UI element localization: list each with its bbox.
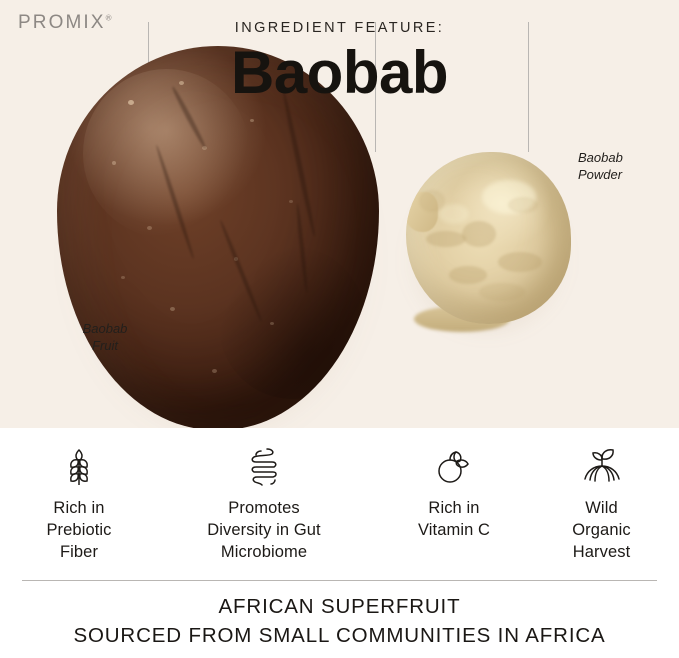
benefit-label: PromotesDiversity in GutMicrobiome	[153, 498, 375, 563]
benefit-item-wild-organic-harvest: WildOrganicHarvest	[533, 444, 670, 563]
fruit-caption-line2: Fruit	[52, 338, 158, 355]
sprout-icon	[533, 444, 670, 490]
benefit-label: Rich inPrebioticFiber	[10, 498, 148, 563]
page-title: Baobab	[0, 38, 679, 107]
baobab-powder-image	[396, 146, 576, 336]
fruit-caption-line1: Baobab	[52, 321, 158, 338]
benefit-label: WildOrganicHarvest	[533, 498, 670, 563]
benefits-bottom-rule	[22, 580, 657, 581]
benefit-label: Rich inVitamin C	[380, 498, 528, 542]
footer-line-2: SOURCED FROM SMALL COMMUNITIES IN AFRICA	[0, 621, 679, 650]
powder-mound	[406, 152, 571, 324]
benefit-item-prebiotic-fiber: Rich inPrebioticFiber	[10, 444, 148, 563]
powder-caption: Baobab Powder	[578, 150, 670, 183]
kicker-text: INGREDIENT FEATURE:	[0, 20, 679, 36]
benefits-section: Rich inPrebioticFiber PromotesDiversity …	[0, 428, 679, 584]
benefit-item-vitamin-c: Rich inVitamin C	[380, 444, 528, 542]
powder-caption-line1: Baobab	[578, 150, 670, 167]
powder-caption-line2: Powder	[578, 167, 670, 184]
footer-section: AFRICAN SUPERFRUIT SOURCED FROM SMALL CO…	[0, 592, 679, 650]
intestine-icon	[153, 444, 375, 490]
hero-section: PROMIX® INGREDIENT FEATURE: Baobab	[0, 0, 679, 428]
citrus-icon	[380, 444, 528, 490]
fruit-caption: Baobab Fruit	[52, 321, 158, 354]
wheat-icon	[10, 444, 148, 490]
benefit-item-gut-microbiome: PromotesDiversity in GutMicrobiome	[153, 444, 375, 563]
footer-line-1: AFRICAN SUPERFRUIT	[0, 592, 679, 621]
